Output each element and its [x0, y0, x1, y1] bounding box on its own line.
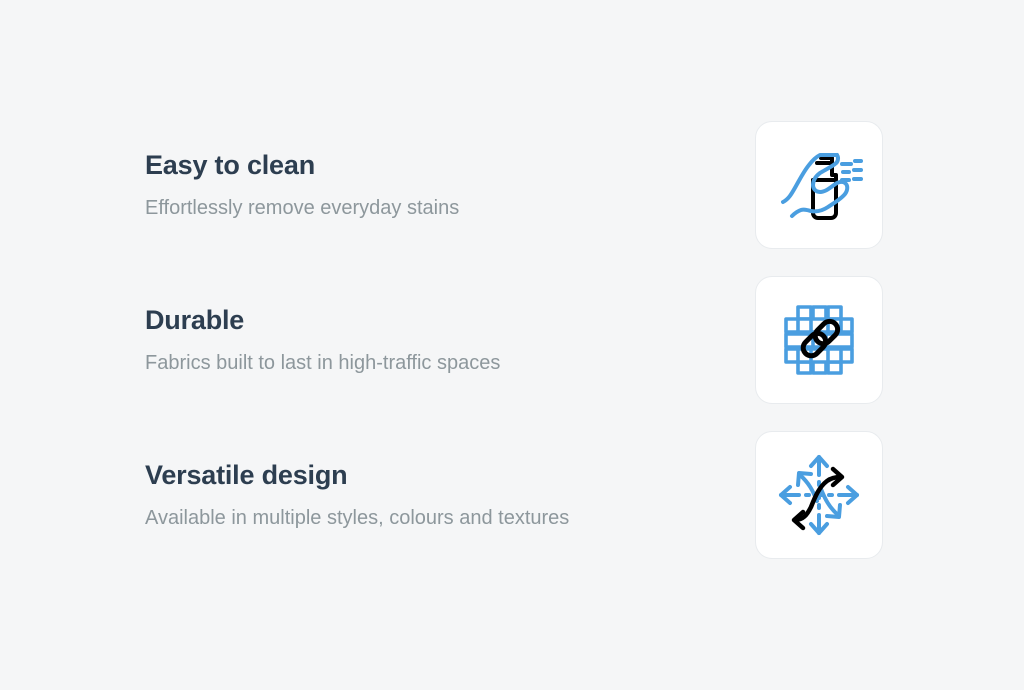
feature-title: Easy to clean	[145, 150, 459, 181]
feature-icon-card	[755, 276, 883, 404]
hand-spray-bottle-icon	[773, 139, 865, 231]
woven-fabric-chain-link-icon	[773, 294, 865, 386]
feature-item-durable: Durable Fabrics built to last in high-tr…	[145, 276, 883, 404]
feature-icon-card	[755, 121, 883, 249]
feature-icon-card	[755, 431, 883, 559]
feature-list: Easy to clean Effortlessly remove everyd…	[145, 121, 883, 559]
feature-subtitle: Available in multiple styles, colours an…	[145, 506, 569, 530]
feature-text-block: Durable Fabrics built to last in high-tr…	[145, 305, 500, 374]
feature-text-block: Versatile design Available in multiple s…	[145, 460, 569, 529]
feature-subtitle: Effortlessly remove everyday stains	[145, 196, 459, 220]
feature-item-versatile-design: Versatile design Available in multiple s…	[145, 431, 883, 559]
feature-subtitle: Fabrics built to last in high-traffic sp…	[145, 351, 500, 375]
feature-item-easy-to-clean: Easy to clean Effortlessly remove everyd…	[145, 121, 883, 249]
multi-direction-arrows-icon	[773, 449, 865, 541]
feature-text-block: Easy to clean Effortlessly remove everyd…	[145, 150, 459, 219]
feature-title: Durable	[145, 305, 500, 336]
feature-title: Versatile design	[145, 460, 569, 491]
